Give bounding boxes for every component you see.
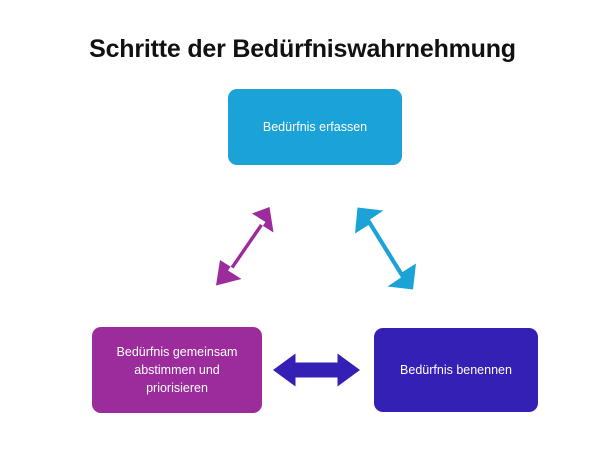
- page-title: Schritte der Bedürfniswahrnehmung: [0, 36, 605, 64]
- node-label: Bedürfnis benennen: [384, 361, 528, 379]
- connector-abstimmen-to-benennen[interactable]: [270, 352, 362, 388]
- node-beduerfnis-erfassen[interactable]: Bedürfnis erfassen: [228, 89, 402, 165]
- node-label: Bedürfnis erfassen: [238, 118, 392, 136]
- diagram-canvas: Schritte der Bedürfniswahrnehmung Bedürf…: [0, 0, 605, 473]
- node-label: Bedürfnis gemeinsam abstimmen und priori…: [102, 343, 252, 397]
- connector-erfassen-to-benennen[interactable]: [348, 200, 428, 294]
- node-beduerfnis-benennen[interactable]: Bedürfnis benennen: [374, 328, 538, 412]
- connector-abstimmen-to-erfassen[interactable]: [206, 200, 286, 294]
- node-beduerfnis-abstimmen-priorisieren[interactable]: Bedürfnis gemeinsam abstimmen und priori…: [92, 327, 262, 413]
